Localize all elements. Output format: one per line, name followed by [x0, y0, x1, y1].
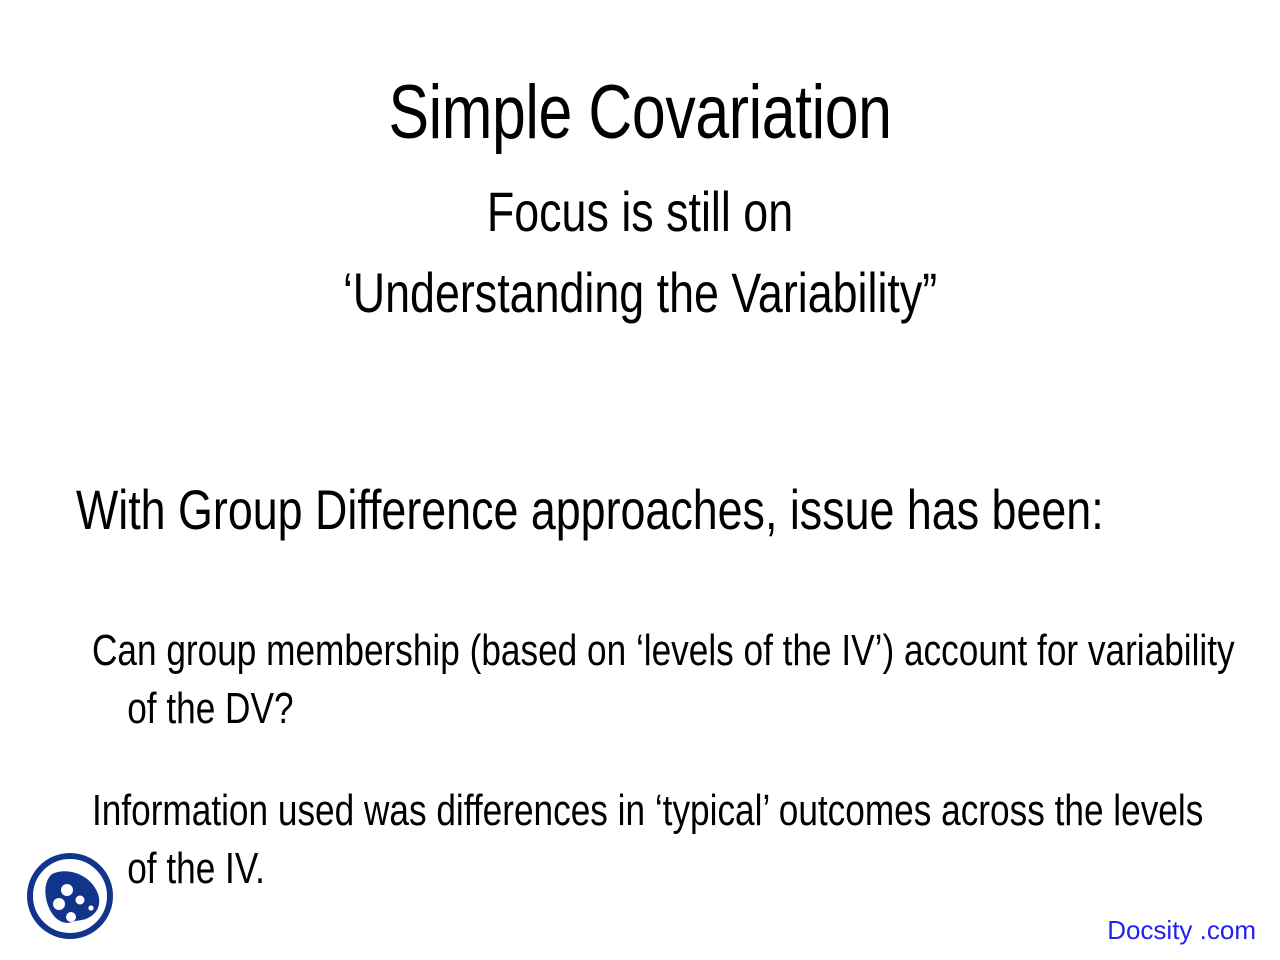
subtitle-line-1: Focus is still on [128, 172, 1152, 253]
page-title: Simple Covariation [128, 73, 1152, 152]
docsity-watermark: Docsity .com [1107, 915, 1256, 946]
sub-points-block: Can group membership (based on ‘levels o… [92, 578, 1202, 942]
sub-point-2: Information used was differences in ‘typ… [92, 782, 1237, 898]
body-block: With Group Difference approaches, issue … [76, 420, 1196, 600]
subtitle-block: Focus is still on ‘Understanding the Var… [0, 172, 1280, 333]
subtitle-line-2: ‘Understanding the Variability” [128, 253, 1152, 334]
lead-statement: With Group Difference approaches, issue … [76, 476, 1234, 544]
sub-point-1: Can group membership (based on ‘levels o… [92, 622, 1237, 738]
slide-canvas: Simple Covariation Focus is still on ‘Un… [0, 0, 1280, 960]
docsity-cookie-logo [22, 848, 118, 944]
